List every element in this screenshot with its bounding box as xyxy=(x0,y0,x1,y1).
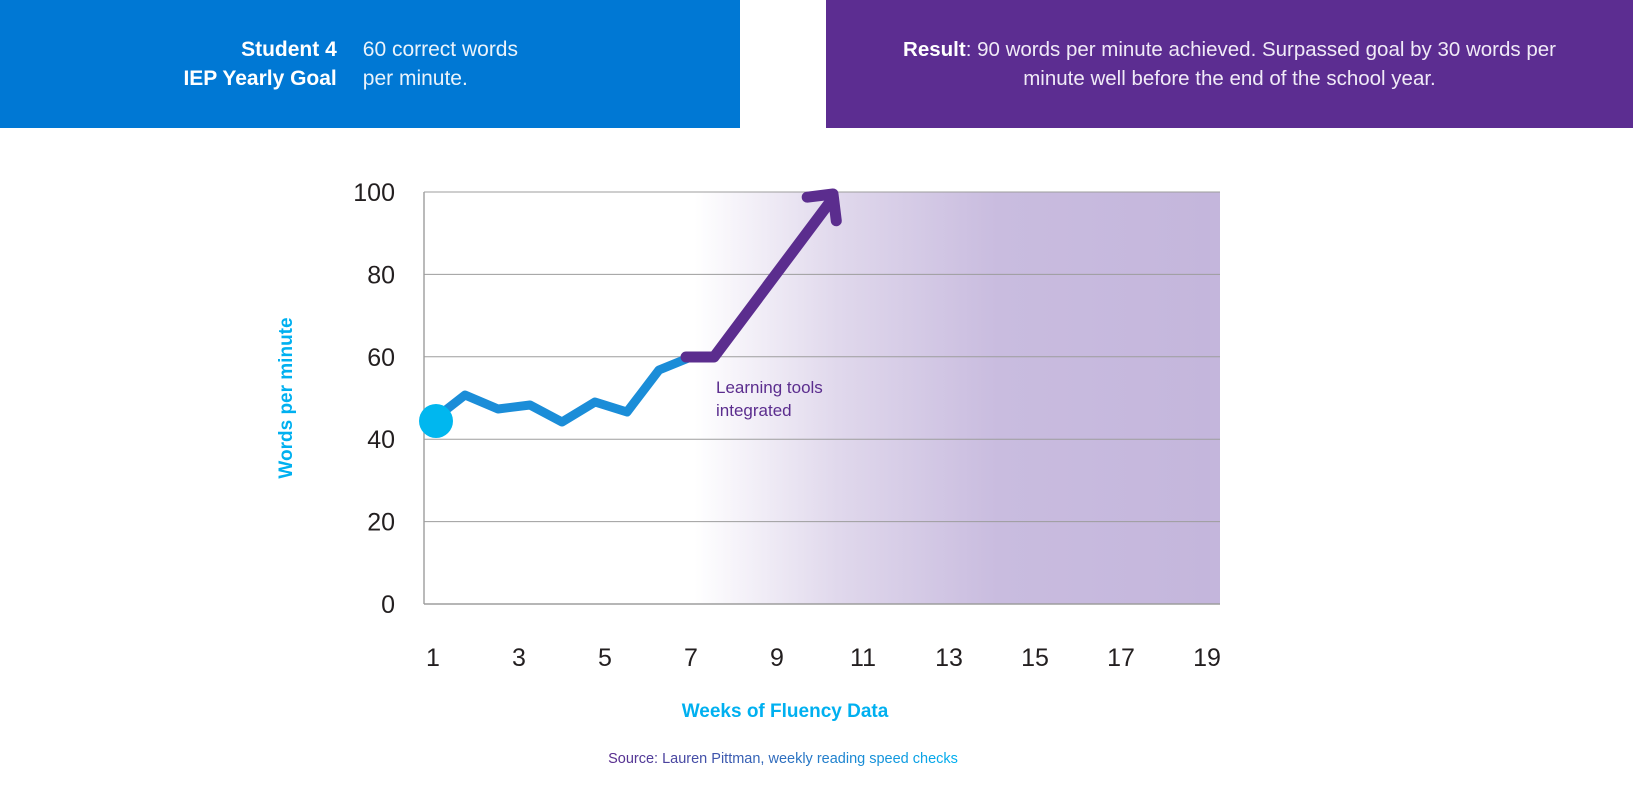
y-tick-60: 60 xyxy=(367,344,395,372)
y-tick-0: 0 xyxy=(381,591,395,619)
x-tick-19: 19 xyxy=(1193,644,1221,672)
x-axis-title: Weeks of Fluency Data xyxy=(682,701,889,722)
iep-goal-value: 60 correct wordsper minute. xyxy=(363,35,518,93)
iep-goal-label: Student 4IEP Yearly Goal xyxy=(183,35,336,93)
series-observed-start-marker xyxy=(419,404,453,438)
y-tick-100: 100 xyxy=(353,179,395,207)
x-tick-7: 7 xyxy=(684,644,698,672)
x-tick-3: 3 xyxy=(512,644,526,672)
annotation-line-2: integrated xyxy=(716,401,792,420)
y-tick-40: 40 xyxy=(367,426,395,454)
y-tick-20: 20 xyxy=(367,509,395,537)
y-tick-80: 80 xyxy=(367,261,395,289)
y-axis-title: Words per minute xyxy=(276,317,297,478)
chart-source-note: Source: Lauren Pittman, weekly reading s… xyxy=(608,751,958,767)
annotation-line-1: Learning tools xyxy=(716,378,823,397)
iep-goal-banner-content: Student 4IEP Yearly Goal 60 correct word… xyxy=(183,35,518,93)
result-body: : 90 words per minute achieved. Surpasse… xyxy=(966,38,1556,90)
x-tick-5: 5 xyxy=(598,644,612,672)
result-label: Result xyxy=(903,38,966,61)
x-tick-13: 13 xyxy=(935,644,963,672)
x-tick-15: 15 xyxy=(1021,644,1049,672)
x-tick-17: 17 xyxy=(1107,644,1135,672)
result-banner-text: Result: 90 words per minute achieved. Su… xyxy=(882,35,1577,93)
fluency-line-chart: 100 80 60 40 20 0 1 3 5 7 9 11 13 15 17 … xyxy=(0,128,1633,802)
x-tick-11: 11 xyxy=(850,644,876,672)
iep-goal-banner: Student 4IEP Yearly Goal 60 correct word… xyxy=(0,0,740,128)
y-axis-tick-labels: 100 80 60 40 20 0 xyxy=(353,179,395,619)
x-tick-9: 9 xyxy=(770,644,784,672)
result-banner: Result: 90 words per minute achieved. Su… xyxy=(826,0,1633,128)
x-tick-1: 1 xyxy=(426,644,440,672)
x-axis-tick-labels: 1 3 5 7 9 11 13 15 17 19 xyxy=(426,644,1221,672)
plot-background xyxy=(424,192,1220,604)
